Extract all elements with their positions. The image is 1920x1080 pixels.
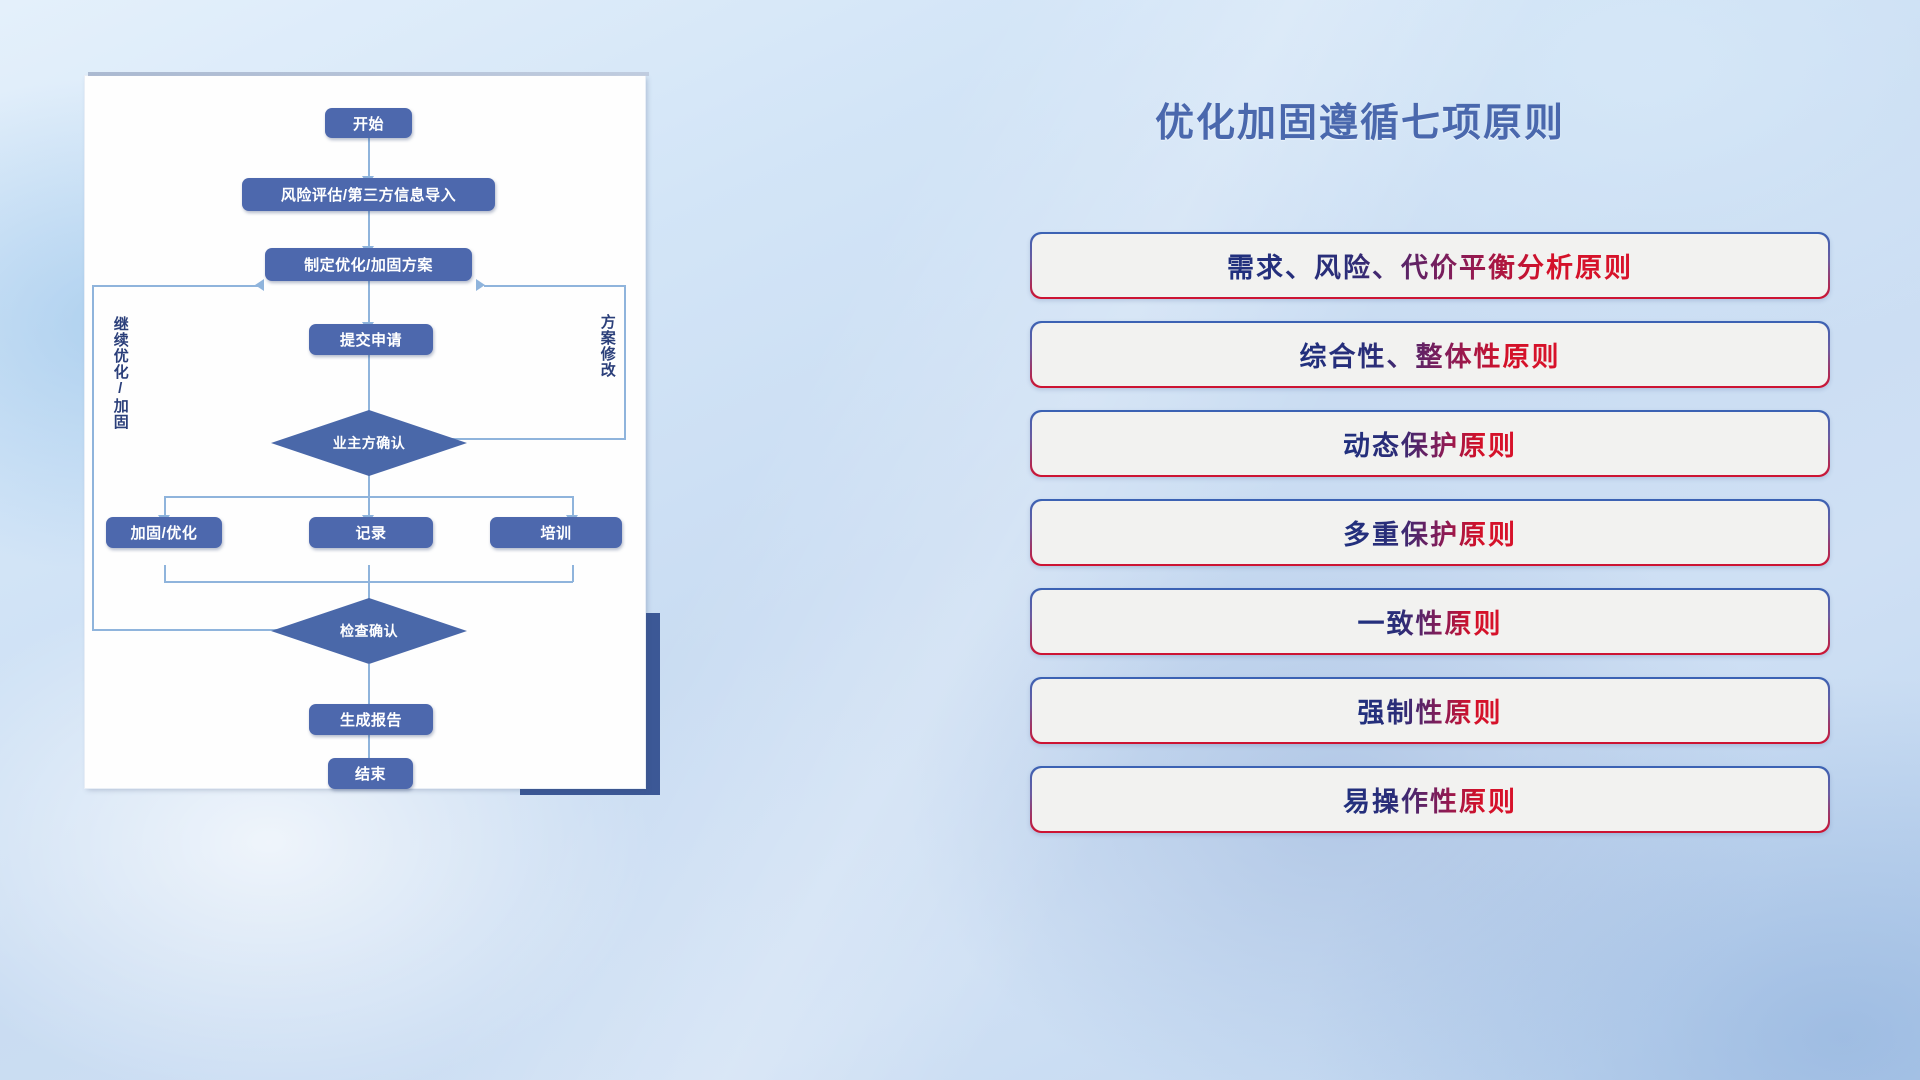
principle-item-3-inner: 动态保护原则 — [1032, 412, 1829, 476]
flow-node-start-label: 开始 — [353, 113, 384, 134]
connector-right-up — [624, 285, 626, 440]
flow-node-record[interactable]: 记录 — [309, 517, 433, 548]
flow-node-check-confirm-label: 检查确认 — [271, 598, 467, 664]
flowchart-panel: 开始 风险评估/第三方信息导入 制定优化/加固方案 提交申请 业主方确认 加固/… — [85, 76, 645, 788]
principle-item-6-label: 强制性原则 — [1358, 691, 1503, 730]
principle-item-5-label: 一致性原则 — [1358, 602, 1503, 641]
flow-node-owner-confirm[interactable]: 业主方确认 — [271, 410, 467, 476]
flow-node-end[interactable]: 结束 — [328, 758, 413, 789]
flow-node-train-label: 培训 — [540, 522, 571, 543]
principle-item-2-label: 综合性、整体性原则 — [1300, 335, 1561, 374]
flow-node-check-confirm[interactable]: 检查确认 — [271, 598, 467, 664]
flow-node-owner-confirm-label: 业主方确认 — [271, 410, 467, 476]
page-title: 优化加固遵循七项原则 — [1155, 92, 1565, 148]
principle-item-4[interactable]: 多重保护原则 — [1030, 499, 1830, 566]
flow-node-reinforce[interactable]: 加固/优化 — [106, 517, 222, 548]
principle-item-1[interactable]: 需求、风险、代价平衡分析原则 — [1030, 232, 1830, 299]
flow-node-report[interactable]: 生成报告 — [309, 704, 433, 735]
flow-node-start[interactable]: 开始 — [325, 108, 412, 138]
connector-check-left — [92, 629, 289, 631]
principle-item-7-label: 易操作性原则 — [1343, 780, 1517, 819]
connector-owner-right — [448, 438, 625, 440]
principle-item-2-inner: 综合性、整体性原则 — [1032, 323, 1829, 387]
principles-list: 需求、风险、代价平衡分析原则 综合性、整体性原则 动态保护原则 多重保护原则 一… — [1030, 232, 1830, 855]
principle-item-5-inner: 一致性原则 — [1032, 590, 1829, 654]
principle-item-6[interactable]: 强制性原则 — [1030, 677, 1830, 744]
connector-left-loop-vertical — [92, 285, 94, 630]
flow-node-reinforce-label: 加固/优化 — [131, 522, 198, 543]
flow-node-report-label: 生成报告 — [340, 709, 402, 730]
flow-node-submit-label: 提交申请 — [340, 329, 402, 350]
connector-owner-down — [368, 474, 370, 497]
connector-left-loop-top — [92, 285, 262, 287]
connector-plan-submit — [368, 274, 370, 326]
flow-node-record-label: 记录 — [355, 522, 386, 543]
principle-item-3[interactable]: 动态保护原则 — [1030, 410, 1830, 477]
connector-train-down — [572, 565, 574, 582]
principle-item-3-label: 动态保护原则 — [1343, 424, 1517, 463]
connector-reinforce-down — [164, 565, 166, 582]
flow-node-plan[interactable]: 制定优化/加固方案 — [265, 248, 472, 281]
principle-item-1-inner: 需求、风险、代价平衡分析原则 — [1032, 234, 1829, 298]
principle-item-4-label: 多重保护原则 — [1343, 513, 1517, 552]
flow-node-plan-label: 制定优化/加固方案 — [304, 254, 433, 275]
flow-node-end-label: 结束 — [355, 763, 386, 784]
connector-right-to-plan — [484, 285, 625, 287]
principle-item-6-inner: 强制性原则 — [1032, 679, 1829, 743]
connector-start-assess — [368, 134, 370, 180]
arrowhead-right-plan-left — [255, 279, 264, 291]
principle-item-7-inner: 易操作性原则 — [1032, 768, 1829, 832]
principle-item-1-label: 需求、风险、代价平衡分析原则 — [1227, 246, 1633, 285]
flow-node-assess-label: 风险评估/第三方信息导入 — [281, 184, 456, 205]
loop-label-continue-optimize: 继续优化/加固 — [111, 316, 129, 430]
principle-item-7[interactable]: 易操作性原则 — [1030, 766, 1830, 833]
principle-item-4-inner: 多重保护原则 — [1032, 501, 1829, 565]
flow-node-submit[interactable]: 提交申请 — [309, 324, 433, 355]
principle-item-2[interactable]: 综合性、整体性原则 — [1030, 321, 1830, 388]
loop-label-plan-revision: 方案修改 — [598, 314, 616, 378]
principle-item-5[interactable]: 一致性原则 — [1030, 588, 1830, 655]
flow-node-assess[interactable]: 风险评估/第三方信息导入 — [242, 178, 495, 211]
arrowhead-left-plan-right — [476, 279, 485, 291]
flow-node-train[interactable]: 培训 — [490, 517, 622, 548]
